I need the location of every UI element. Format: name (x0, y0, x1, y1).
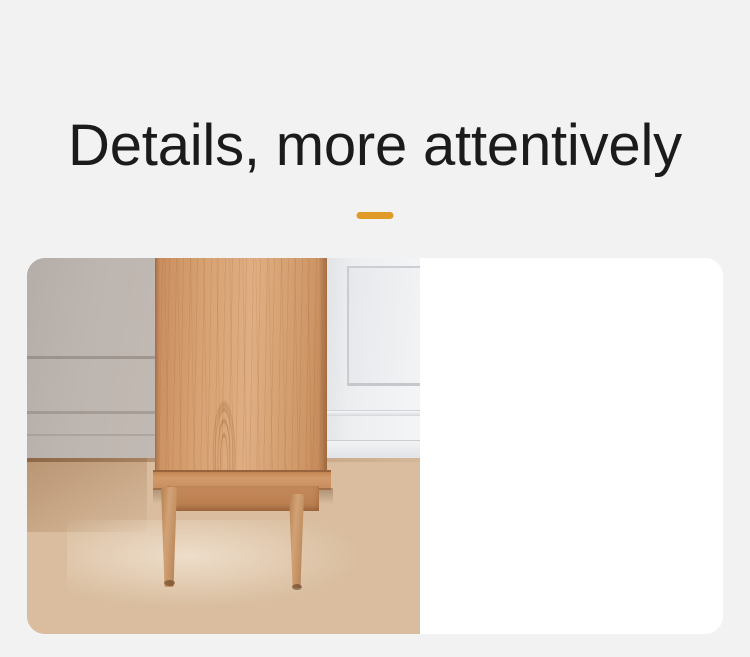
product-detail-section: Details, more attentively (0, 0, 750, 657)
wainscot-panel-moulding (347, 266, 420, 386)
cabinet-left-edge (155, 258, 160, 476)
page-title: Details, more attentively (0, 116, 750, 177)
cabinet-wood-grain (187, 264, 261, 470)
floor-highlight (67, 520, 367, 610)
cabinet-leg-back-shadow (292, 584, 302, 590)
info-pane: Reserved skirting line Can be placed clo… (420, 258, 723, 634)
accent-divider (357, 212, 394, 219)
cabinet-leg-front-shadow (164, 580, 175, 586)
product-photo: Skirting (27, 258, 420, 634)
wainscot-chair-rail (327, 410, 420, 416)
cabinet-right-edge (319, 258, 327, 476)
detail-card: Skirting Reserved skirting line Can be p… (27, 258, 723, 634)
